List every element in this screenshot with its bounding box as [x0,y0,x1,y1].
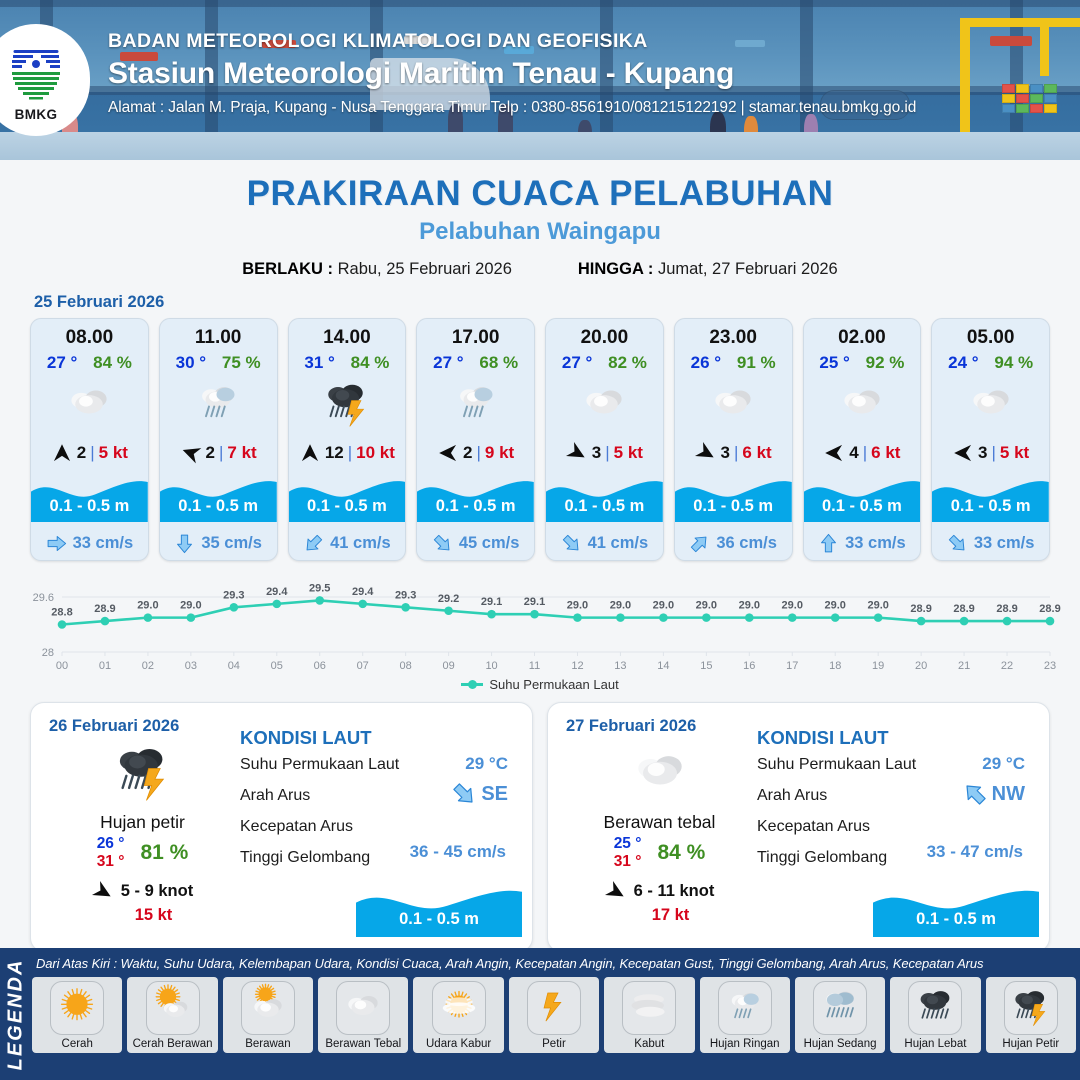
legend-line-marker-icon [461,683,483,686]
chart-data-label: 29.0 [782,600,803,612]
wind-direction-arrow-icon [823,442,845,464]
hujan-ringan-icon [181,375,255,435]
chart-data-label: 28.9 [1039,603,1060,615]
chart-data-point [530,610,539,619]
card-time: 08.00 [31,319,148,349]
chart-xtick: 15 [700,660,712,672]
panel-sea-heading: KONDISI LAUT [240,727,514,749]
panel-sst-value: 29 °C [465,754,508,774]
page-header: BMKG BADAN METEOROLOGI KLIMATOLOGI DAN G… [0,0,1080,160]
card-humidity: 84 % [93,353,132,373]
legend-item-icon [622,981,676,1035]
chart-data-point [1003,617,1012,626]
card-humidity: 92 % [866,353,905,373]
wind-direction-arrow-icon [437,442,459,464]
legend-item: Kabut [604,977,694,1053]
card-current-speed: 35 cm/s [201,534,262,553]
hourly-forecast-card[interactable]: 08.00 27 ° 84 % 2 | 5 kt 0.1 - 0.5 m 33 … [30,318,149,561]
card-current-speed: 33 cm/s [73,534,134,553]
card-wind-speed: 2 [77,443,86,463]
valid-from-value: Rabu, 25 Februari 2026 [338,260,512,278]
port-crane [1040,18,1049,76]
chart-data-point [917,617,926,626]
current-direction-arrow-icon [818,533,839,554]
berawan-tebal-icon [954,375,1028,435]
berawan-tebal-icon [567,375,641,435]
shipping-container [1044,104,1057,113]
card-time: 02.00 [804,319,921,349]
chart-xtick: 20 [915,660,927,672]
port-crane [960,18,970,138]
legend-item: Cerah [32,977,122,1053]
card-wind-row: 2 | 5 kt [31,442,148,464]
chart-xtick: 21 [958,660,970,672]
card-gust-speed: 7 kt [227,443,256,463]
panel-current-speed-label: Kecepatan Arus [757,818,870,835]
shipping-container [1030,104,1043,113]
chart-data-label: 29.5 [309,582,330,594]
current-direction-arrow-icon [685,529,715,559]
panel-wind-row: 5 - 9 knot [49,881,236,903]
berawan-tebal-icon [825,375,899,435]
berawan-tebal-icon [614,737,706,811]
terminal-floor [0,132,1080,160]
card-current-speed: 45 cm/s [459,534,520,553]
card-air-temperature: 25 ° [819,353,849,373]
hourly-forecast-card[interactable]: 14.00 31 ° 84 % 12 | 10 kt 0.1 - 0.5 m 4… [288,318,407,561]
cerah-icon [52,983,102,1033]
card-wind-row: 4 | 6 kt [804,442,921,464]
legend-item-icon [146,981,200,1035]
card-air-temperature: 27 ° [433,353,463,373]
chart-legend: Suhu Permukaan Laut [0,677,1080,692]
panel-date: 26 Februari 2026 [49,717,236,736]
card-current-speed: 41 cm/s [330,534,391,553]
current-direction-arrow-icon [299,529,329,559]
chart-xtick: 19 [872,660,884,672]
hourly-forecast-card[interactable]: 11.00 30 ° 75 % 2 | 7 kt 0.1 - 0.5 m 35 … [159,318,278,561]
validity-row: BERLAKU : Rabu, 25 Februari 2026 HINGGA … [0,260,1080,279]
legend-item-icon [908,981,962,1035]
chart-data-label: 29.0 [137,600,158,612]
card-wind-row: 3 | 5 kt [932,442,1049,464]
card-current-row: 33 cm/s [932,533,1049,554]
chart-data-point [573,613,582,622]
chart-data-label: 29.2 [438,593,459,605]
card-time: 05.00 [932,319,1049,349]
chart-xtick: 12 [571,660,583,672]
title-section: PRAKIRAAN CUACA PELABUHAN Pelabuhan Wain… [0,160,1080,279]
card-wind-separator: | [605,443,609,463]
chart-data-point [1046,617,1055,626]
valid-from-label: BERLAKU : [242,260,333,278]
chart-data-point [58,620,67,629]
card-weather-icon [546,377,663,433]
card-wind-speed: 4 [849,443,858,463]
chart-xtick: 17 [786,660,798,672]
legend-item: Hujan Petir [986,977,1076,1053]
card-wind-row: 12 | 10 kt [289,442,406,464]
card-humidity: 94 % [994,353,1033,373]
chart-data-label: 29.0 [867,600,888,612]
chart-xtick: 06 [314,660,326,672]
chart-data-point [487,610,496,619]
card-wind-row: 3 | 5 kt [546,442,663,464]
panel-humidity: 81 % [140,841,188,865]
legend-item-label: Hujan Ringan [710,1038,780,1050]
hourly-forecast-card[interactable]: 17.00 27 ° 68 % 2 | 9 kt 0.1 - 0.5 m 45 … [416,318,535,561]
chart-xtick: 03 [185,660,197,672]
shipping-container [1044,94,1057,103]
card-current-row: 41 cm/s [289,533,406,554]
sst-chart-canvas: 29.6280001020304050607080910111213141516… [18,571,1062,676]
chart-data-point [401,603,410,612]
shipping-container [1002,104,1015,113]
card-gust-speed: 5 kt [614,443,643,463]
legend-item-label: Kabut [634,1038,664,1050]
bmkg-emblem-icon [1,38,71,106]
panel-wave-value: 0.1 - 0.5 m [873,910,1039,929]
shipping-container [1002,94,1015,103]
legend-item: Berawan [223,977,313,1053]
wind-direction-arrow-icon [691,438,721,468]
chart-data-label: 29.0 [610,600,631,612]
panel-gust: 17 kt [566,906,753,925]
chart-xtick: 00 [56,660,68,672]
legend-item: Hujan Sedang [795,977,885,1053]
card-wave-height: 0.1 - 0.5 m [932,497,1049,516]
chart-data-point [616,613,625,622]
legend-item-icon [50,981,104,1035]
card-wave-height: 0.1 - 0.5 m [804,497,921,516]
card-wind-separator: | [348,443,352,463]
legend-item: Hujan Ringan [700,977,790,1053]
card-humidity: 84 % [351,353,390,373]
card-humidity: 91 % [737,353,776,373]
cerah-berawan-icon [148,983,198,1033]
daily-forecast-row: 26 Februari 2026 Hujan petir 26 ° 31 ° 8… [0,692,1080,952]
card-wind-row: 2 | 9 kt [417,442,534,464]
chart-xtick: 09 [442,660,454,672]
legend-item: Cerah Berawan [127,977,217,1053]
current-direction-arrow-icon [446,776,483,813]
chart-data-point [659,613,668,622]
chart-data-label: 29.0 [180,600,201,612]
window-beam [0,0,1080,7]
card-current-speed: 33 cm/s [974,534,1035,553]
panel-wind-range: 5 - 9 knot [121,882,193,901]
legend-item-icon [813,981,867,1035]
chart-data-label: 29.3 [395,589,416,601]
chart-data-point [745,613,754,622]
chart-data-label: 29.4 [352,586,374,598]
legend-item-label: Hujan Lebat [904,1038,966,1050]
card-current-row: 35 cm/s [160,533,277,554]
card-wind-speed: 2 [463,443,472,463]
chart-data-label: 29.0 [825,600,846,612]
daily-forecast-panel[interactable]: 27 Februari 2026 Berawan tebal 25 ° 31 °… [547,702,1050,952]
chart-legend-label: Suhu Permukaan Laut [489,677,618,692]
card-time: 23.00 [675,319,792,349]
card-weather-icon [31,377,148,433]
chart-xtick: 18 [829,660,841,672]
panel-wave-label: Tinggi Gelombang [757,849,887,866]
card-wind-separator: | [863,443,867,463]
hujan-ringan-icon [720,983,770,1033]
chart-xtick: 10 [485,660,497,672]
card-wind-row: 3 | 6 kt [675,442,792,464]
chart-data-point [230,603,239,612]
shipping-container [1002,84,1015,93]
card-weather-icon [804,377,921,433]
card-humidity: 82 % [608,353,647,373]
panel-sea-heading: KONDISI LAUT [757,727,1031,749]
legend-section: LEGENDA Dari Atas Kiri : Waktu, Suhu Uda… [0,948,1080,1080]
card-wave-height: 0.1 - 0.5 m [31,497,148,516]
current-direction-arrow-icon [556,529,586,559]
legend-item: Petir [509,977,599,1053]
panel-sst-label: Suhu Permukaan Laut [240,756,399,773]
card-weather-icon [289,377,406,433]
chart-data-point [315,596,324,605]
legend-item-label: Cerah Berawan [133,1038,213,1050]
panel-temp-max: 31 ° [614,853,642,871]
panel-condition: Berawan tebal [566,812,753,833]
legend-note: Dari Atas Kiri : Waktu, Suhu Udara, Kele… [32,948,1076,977]
chart-data-label: 28.9 [910,603,931,615]
valid-to-value: Jumat, 27 Februari 2026 [658,260,838,278]
chart-xtick: 05 [271,660,283,672]
shipping-container [1030,84,1043,93]
chart-data-point [144,613,153,622]
chart-data-point [187,613,196,622]
shipping-container [1016,94,1029,103]
hourly-date-label: 25 Februari 2026 [34,293,1080,312]
legend-item-icon [718,981,772,1035]
chart-xtick: 23 [1044,660,1056,672]
hujan-lebat-icon [910,983,960,1033]
hourly-forecast-card[interactable]: 20.00 27 ° 82 % 3 | 5 kt 0.1 - 0.5 m 41 … [545,318,664,561]
card-weather-icon [932,377,1049,433]
card-current-row: 33 cm/s [804,533,921,554]
chart-data-point [101,617,110,626]
chart-data-point [358,600,367,609]
card-wave-height: 0.1 - 0.5 m [289,497,406,516]
shipping-container [1030,94,1043,103]
card-time: 17.00 [417,319,534,349]
card-current-speed: 36 cm/s [716,534,777,553]
card-wind-separator: | [219,443,223,463]
wind-direction-arrow-icon [299,442,321,464]
card-gust-speed: 6 kt [871,443,900,463]
card-gust-speed: 5 kt [99,443,128,463]
petir-icon [529,983,579,1033]
berawan-tebal-icon [52,375,126,435]
current-direction-arrow-icon [427,529,457,559]
card-wind-speed: 2 [206,443,215,463]
udara-kabur-icon [434,983,484,1033]
valid-to-label: HINGGA : [578,260,653,278]
card-wind-speed: 3 [721,443,730,463]
legend-item: Udara Kabur [413,977,503,1053]
card-wind-speed: 12 [325,443,344,463]
panel-sst-value: 29 °C [982,754,1025,774]
hourly-forecast-card[interactable]: 02.00 25 ° 92 % 4 | 6 kt 0.1 - 0.5 m 33 … [803,318,922,561]
card-air-temperature: 27 ° [47,353,77,373]
legend-item-label: Udara Kabur [426,1038,491,1050]
card-humidity: 68 % [479,353,518,373]
page-subtitle: Pelabuhan Waingapu [0,218,1080,246]
card-wave-height: 0.1 - 0.5 m [546,497,663,516]
wind-direction-arrow-icon [51,442,73,464]
chart-xtick: 04 [228,660,240,672]
shipping-container [1044,84,1057,93]
chart-data-label: 28.8 [51,607,72,619]
panel-humidity: 84 % [657,841,705,865]
panel-current-dir-label: Arah Arus [240,787,310,804]
hourly-forecast-card[interactable]: 05.00 24 ° 94 % 3 | 5 kt 0.1 - 0.5 m 33 … [931,318,1050,561]
current-direction-arrow-icon [46,533,67,554]
agency-name: BADAN METEOROLOGI KLIMATOLOGI DAN GEOFIS… [108,30,916,53]
chart-data-label: 28.9 [94,603,115,615]
current-direction-arrow-icon [956,776,993,813]
card-current-row: 36 cm/s [675,533,792,554]
chart-data-label: 29.1 [524,596,545,608]
card-current-speed: 41 cm/s [588,534,649,553]
chart-data-label: 28.9 [996,603,1017,615]
card-air-temperature: 30 ° [176,353,206,373]
card-wind-speed: 3 [592,443,601,463]
shipping-container [1016,104,1029,113]
card-time: 11.00 [160,319,277,349]
chart-data-point [960,617,969,626]
chart-data-label: 29.3 [223,589,244,601]
card-current-row: 41 cm/s [546,533,663,554]
chart-data-label: 29.0 [696,600,717,612]
panel-current-dir-label: Arah Arus [757,787,827,804]
hujan-petir-icon [310,375,384,435]
card-wind-row: 2 | 7 kt [160,442,277,464]
chart-ytick: 29.6 [33,592,54,604]
panel-temp-min: 26 ° [97,835,125,853]
chart-data-point [702,613,711,622]
hourly-forecast-row: 08.00 27 ° 84 % 2 | 5 kt 0.1 - 0.5 m 33 … [0,318,1080,561]
card-wave-height: 0.1 - 0.5 m [160,497,277,516]
card-wind-separator: | [90,443,94,463]
ship-silhouette [990,36,1032,46]
panel-date: 27 Februari 2026 [566,717,753,736]
legend-item-label: Hujan Sedang [804,1038,877,1050]
chart-data-label: 29.0 [567,600,588,612]
chart-data-point [272,600,281,609]
card-current-row: 33 cm/s [31,533,148,554]
chart-xtick: 08 [400,660,412,672]
card-air-temperature: 31 ° [304,353,334,373]
chart-xtick: 16 [743,660,755,672]
daily-forecast-panel[interactable]: 26 Februari 2026 Hujan petir 26 ° 31 ° 8… [30,702,533,952]
card-weather-icon [160,377,277,433]
card-weather-icon [675,377,792,433]
card-time: 20.00 [546,319,663,349]
panel-wind-range: 6 - 11 knot [634,882,715,901]
hourly-forecast-card[interactable]: 23.00 26 ° 91 % 3 | 6 kt 0.1 - 0.5 m 36 … [674,318,793,561]
wind-direction-arrow-icon [176,439,204,467]
panel-condition: Hujan petir [49,812,236,833]
berawan-icon [243,983,293,1033]
card-gust-speed: 6 kt [742,443,771,463]
chart-data-label: 29.4 [266,586,288,598]
page-title: PRAKIRAAN CUACA PELABUHAN [0,174,1080,214]
card-wave-height: 0.1 - 0.5 m [675,497,792,516]
chart-ytick: 28 [42,647,54,659]
chart-data-label: 29.1 [481,596,502,608]
legend-item-icon [432,981,486,1035]
port-crane [960,18,1080,27]
hujan-petir-icon [1006,983,1056,1033]
card-gust-speed: 10 kt [356,443,395,463]
legend-side-bar: LEGENDA [0,948,32,1080]
chart-data-point [831,613,840,622]
kabut-icon [624,983,674,1033]
chart-data-point [874,613,883,622]
panel-gust: 15 kt [49,906,236,925]
card-gust-speed: 5 kt [1000,443,1029,463]
chart-xtick: 22 [1001,660,1013,672]
wind-direction-arrow-icon [562,438,592,468]
chart-series-line [62,600,1050,624]
chart-xtick: 02 [142,660,154,672]
station-address: Alamat : Jalan M. Praja, Kupang - Nusa T… [108,99,916,117]
card-wind-speed: 3 [978,443,987,463]
hujan-petir-icon [97,737,189,811]
hujan-ringan-icon [439,375,513,435]
shipping-container [1016,84,1029,93]
legend-item: Berawan Tebal [318,977,408,1053]
panel-temp-max: 31 ° [97,853,125,871]
legend-items-row: Cerah Cerah Berawan Berawan Berawan Teba… [32,977,1076,1053]
wind-direction-arrow-icon [601,877,631,907]
panel-wave-value: 0.1 - 0.5 m [356,910,522,929]
panel-wave-label: Tinggi Gelombang [240,849,370,866]
card-current-row: 45 cm/s [417,533,534,554]
legend-side-label: LEGENDA [5,958,28,1070]
valid-from: BERLAKU : Rabu, 25 Februari 2026 [242,260,512,279]
legend-item-icon [527,981,581,1035]
legend-item-label: Petir [542,1038,566,1050]
panel-current-speed-label: Kecepatan Arus [240,818,353,835]
chart-xtick: 01 [99,660,111,672]
card-humidity: 75 % [222,353,261,373]
wind-direction-arrow-icon [952,442,974,464]
chart-data-point [444,606,453,615]
chart-xtick: 14 [657,660,669,672]
current-direction-arrow-icon [942,529,972,559]
chart-xtick: 11 [529,660,540,672]
card-time: 14.00 [289,319,406,349]
hujan-sedang-icon [815,983,865,1033]
card-air-temperature: 26 ° [691,353,721,373]
card-air-temperature: 24 ° [948,353,978,373]
panel-weather-icon [566,738,753,810]
chart-data-label: 29.0 [739,600,760,612]
card-current-speed: 33 cm/s [845,534,906,553]
legend-item-label: Cerah [62,1038,93,1050]
legend-item-label: Hujan Petir [1002,1038,1059,1050]
card-gust-speed: 9 kt [485,443,514,463]
card-wave-height: 0.1 - 0.5 m [417,497,534,516]
valid-to: HINGGA : Jumat, 27 Februari 2026 [578,260,838,279]
legend-item: Hujan Lebat [890,977,980,1053]
